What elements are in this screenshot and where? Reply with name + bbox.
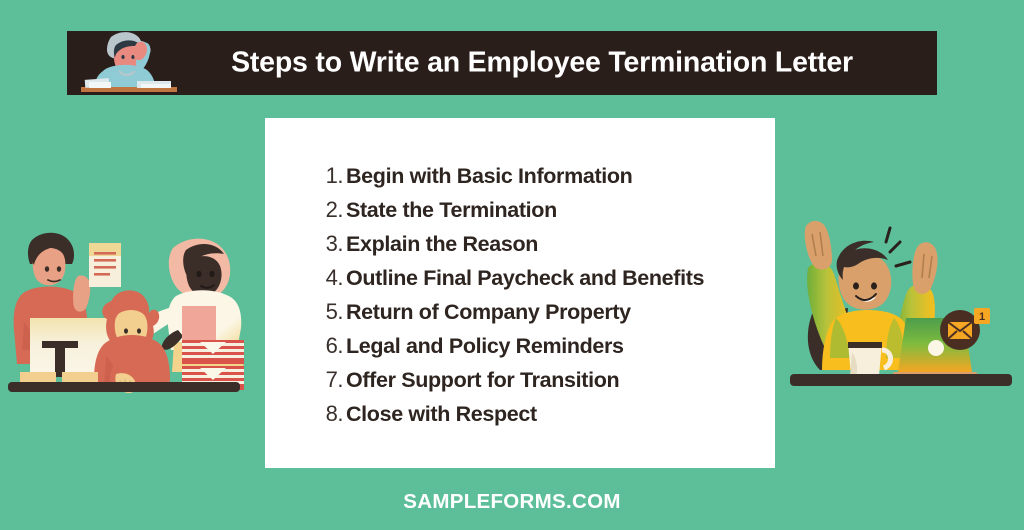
list-item-label: Return of Company Property — [343, 300, 631, 325]
steps-list: 1. Begin with Basic Information 2. State… — [313, 163, 704, 435]
list-item-number: 5. — [313, 299, 343, 325]
list-item-number: 7. — [313, 367, 343, 393]
content-card: 1. Begin with Basic Information 2. State… — [265, 118, 775, 468]
list-item-label: Legal and Policy Reminders — [343, 334, 624, 359]
email-notification-icon: 1 — [940, 308, 990, 350]
list-item: 6. Legal and Policy Reminders — [313, 333, 704, 367]
list-item-label: State the Termination — [343, 198, 557, 223]
held-document — [89, 243, 121, 287]
page-title: Steps to Write an Employee Termination L… — [67, 47, 937, 80]
left-illustration — [0, 222, 252, 394]
list-item-label: Offer Support for Transition — [343, 368, 619, 393]
list-item-number: 8. — [313, 401, 343, 427]
poster-canvas: 1 — [0, 0, 1024, 530]
list-item: 5. Return of Company Property — [313, 299, 704, 333]
list-item-number: 1. — [313, 163, 343, 189]
list-item-label: Explain the Reason — [343, 232, 538, 257]
svg-text:1: 1 — [979, 311, 985, 323]
list-item-label: Close with Respect — [343, 402, 537, 427]
list-item: 8. Close with Respect — [313, 401, 704, 435]
list-item-number: 2. — [313, 197, 343, 223]
list-item: 7. Offer Support for Transition — [313, 367, 704, 401]
head — [837, 241, 892, 310]
desk-surface — [790, 374, 1012, 386]
desk-surface — [8, 382, 240, 392]
header-banner: Steps to Write an Employee Termination L… — [67, 31, 937, 95]
excitement-lines — [886, 228, 910, 266]
list-item-label: Outline Final Paycheck and Benefits — [343, 266, 704, 291]
footer-brand: SAMPLEFORMS.COM — [0, 490, 1024, 514]
list-item-number: 4. — [313, 265, 343, 291]
list-item-number: 3. — [313, 231, 343, 257]
list-item-number: 6. — [313, 333, 343, 359]
list-item: 4. Outline Final Paycheck and Benefits — [313, 265, 704, 299]
list-item: 3. Explain the Reason — [313, 231, 704, 265]
list-item-label: Begin with Basic Information — [343, 164, 632, 189]
list-item: 1. Begin with Basic Information — [313, 163, 704, 197]
list-item: 2. State the Termination — [313, 197, 704, 231]
right-illustration: 1 — [790, 214, 1024, 394]
